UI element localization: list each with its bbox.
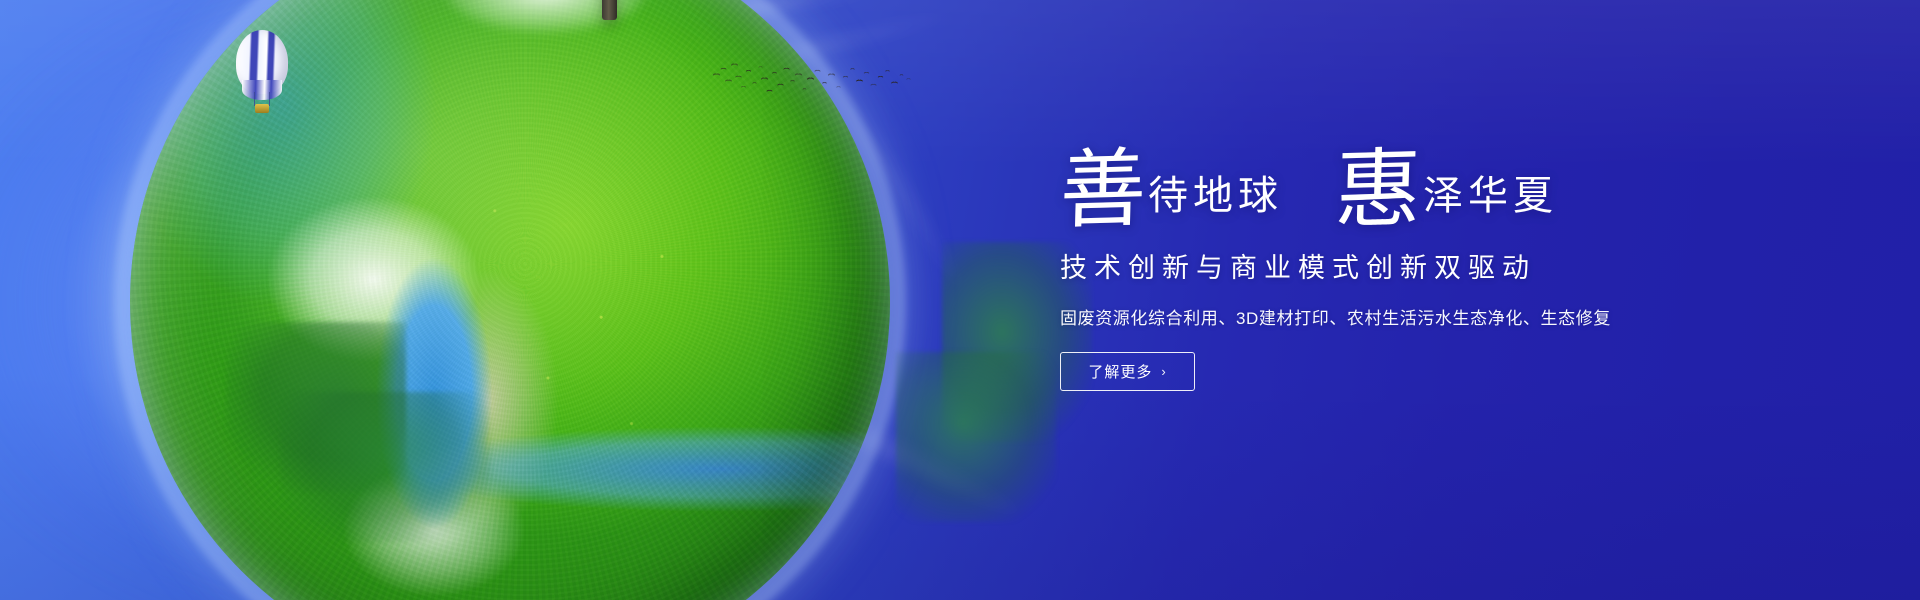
bird-icon xyxy=(752,82,756,84)
bird-icon xyxy=(725,80,732,84)
balloon-envelope xyxy=(236,30,288,94)
bird-icon xyxy=(803,88,807,90)
headline-text-secondary-2: 泽华夏 xyxy=(1423,176,1558,216)
bird-icon xyxy=(784,68,790,72)
bird-icon xyxy=(761,77,768,81)
hot-air-balloon-icon xyxy=(236,30,288,122)
headline-text-secondary-1: 待地球 xyxy=(1148,176,1283,216)
learn-more-label: 了解更多 xyxy=(1088,361,1152,382)
bird-icon xyxy=(850,68,854,70)
headline-char-primary-1: 善 xyxy=(1059,150,1147,231)
bird-icon xyxy=(772,72,777,75)
bird-icon xyxy=(864,72,869,75)
bird-icon xyxy=(906,78,910,80)
bird-icon xyxy=(795,73,802,77)
learn-more-button[interactable]: 了解更多 › xyxy=(1060,352,1195,391)
bird-icon xyxy=(746,70,751,73)
bird-icon xyxy=(822,82,826,85)
hero-text-block: 善 待地球 惠 泽华夏 技术创新与商业模式创新双驱动 固废资源化综合利用、3D建… xyxy=(1060,126,1780,391)
tree-trunk xyxy=(602,0,617,20)
bird-icon xyxy=(741,86,746,89)
tree-icon xyxy=(896,352,1056,522)
headline-char-primary-2: 惠 xyxy=(1334,150,1422,231)
chevron-right-icon: › xyxy=(1161,365,1166,378)
page-title: 善 待地球 惠 泽华夏 xyxy=(1060,126,1780,230)
bird-icon xyxy=(836,86,840,88)
bird-icon xyxy=(843,76,848,79)
bird-icon xyxy=(807,77,814,81)
bird-icon xyxy=(731,63,738,67)
bird-flock-icon xyxy=(712,56,912,104)
bird-icon xyxy=(759,66,763,68)
bird-icon xyxy=(856,80,862,84)
balloon-basket xyxy=(255,104,269,113)
bird-icon xyxy=(721,68,727,71)
bird-icon xyxy=(790,80,794,83)
bird-icon xyxy=(828,73,835,77)
bird-icon xyxy=(735,76,741,80)
tree-icon xyxy=(280,392,490,542)
bird-icon xyxy=(871,84,877,87)
bird-icon xyxy=(885,70,889,73)
bird-icon xyxy=(815,70,821,73)
hero-banner: 善 待地球 惠 泽华夏 技术创新与商业模式创新双驱动 固废资源化综合利用、3D建… xyxy=(0,0,1920,600)
bird-icon xyxy=(900,74,904,76)
bird-icon xyxy=(777,84,783,88)
bird-icon xyxy=(713,73,720,77)
page-subtitle: 技术创新与商业模式创新双驱动 xyxy=(1060,246,1780,285)
page-description: 固废资源化综合利用、3D建材打印、农村生活污水生态净化、生态修复 xyxy=(1060,304,1780,329)
bird-icon xyxy=(767,90,773,93)
bird-icon xyxy=(878,76,883,79)
bird-icon xyxy=(891,82,897,86)
tree-icon xyxy=(488,0,738,10)
